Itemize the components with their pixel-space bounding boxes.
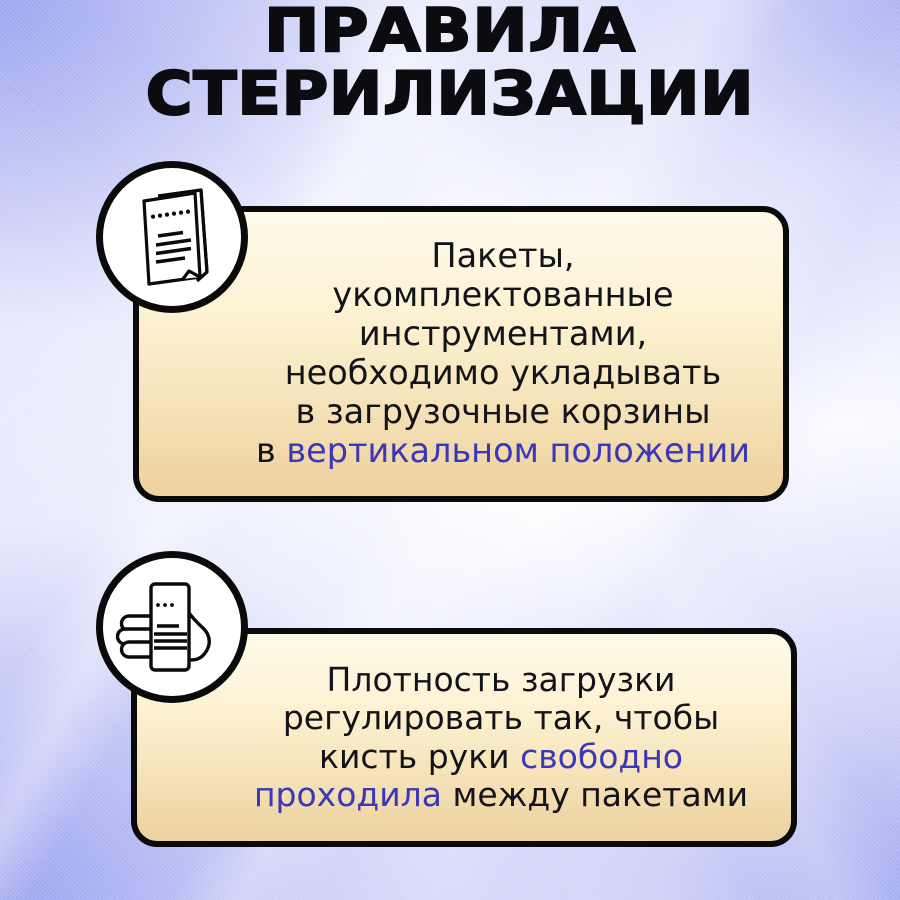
plain-text: укомплектованные bbox=[332, 275, 673, 314]
rule-2-line-4: проходила между пакетами bbox=[225, 776, 777, 814]
highlighted-text: свободно bbox=[520, 737, 683, 776]
rule-1-line-2: укомплектованные bbox=[235, 276, 771, 315]
plain-text: между пакетами bbox=[442, 775, 748, 814]
plain-text: в bbox=[256, 431, 286, 470]
plain-text: в загрузочные корзины bbox=[295, 392, 710, 431]
plain-text: Пакеты, bbox=[431, 236, 574, 275]
plain-text: регулировать так, чтобы bbox=[283, 698, 719, 737]
rule-2-icon-badge bbox=[96, 551, 248, 703]
rule-1-line-6: в вертикальном положении bbox=[235, 432, 771, 471]
plain-text: инструментами, bbox=[359, 314, 647, 353]
rule-2-line-3: кисть руки свободно bbox=[225, 738, 777, 776]
rule-1-line-4: необходимо укладывать bbox=[235, 354, 771, 393]
hand-between-pouches-icon bbox=[109, 564, 235, 690]
sterilization-pouch-icon bbox=[111, 176, 233, 298]
plain-text: Плотность загрузки bbox=[327, 660, 676, 699]
rule-1-line-1: Пакеты, bbox=[235, 237, 771, 276]
plain-text: кисть руки bbox=[319, 737, 520, 776]
poster-root: ПРАВИЛА СТЕРИЛИЗАЦИИ Пакеты,укомплектова… bbox=[0, 0, 900, 900]
rule-card-2-text: Плотность загрузкирегулировать так, чтоб… bbox=[137, 661, 791, 814]
rule-1-line-3: инструментами, bbox=[235, 315, 771, 354]
highlighted-text: проходила bbox=[254, 775, 442, 814]
plain-text: необходимо укладывать bbox=[285, 353, 721, 392]
title-line-1: ПРАВИЛА bbox=[0, 2, 900, 61]
pouch-seal-dots-2 bbox=[156, 603, 174, 607]
rule-2-line-2: регулировать так, чтобы bbox=[225, 699, 777, 737]
title-line-2: СТЕРИЛИЗАЦИИ bbox=[0, 65, 900, 124]
rule-2-line-1: Плотность загрузки bbox=[225, 661, 777, 699]
rule-1-line-5: в загрузочные корзины bbox=[235, 393, 771, 432]
rule-1-icon-badge bbox=[96, 161, 248, 313]
page-title: ПРАВИЛА СТЕРИЛИЗАЦИИ bbox=[0, 2, 900, 124]
highlighted-text: вертикальном положении bbox=[286, 431, 750, 470]
